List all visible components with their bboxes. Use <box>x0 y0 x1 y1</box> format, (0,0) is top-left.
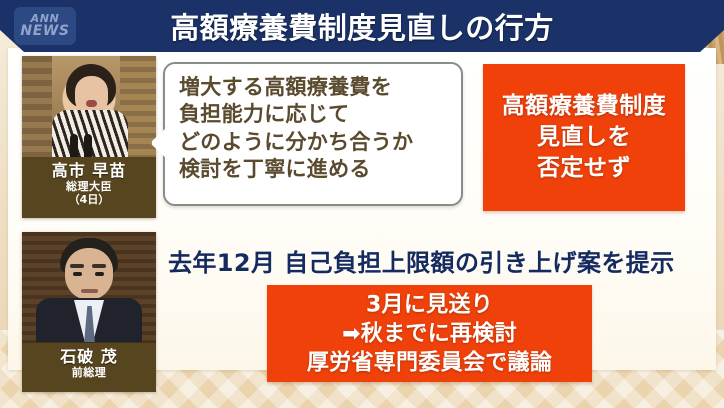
speaker-card-takaichi: 高市 早苗 総理大臣 （4日） <box>22 56 156 218</box>
quote-text: 増大する高額療養費を 負担能力に応じて どのように分かち合うか 検討を丁寧に進め… <box>179 74 451 183</box>
quote-line: 検討を丁寧に進める <box>179 156 451 183</box>
takaichi-sanae-photo <box>22 56 156 168</box>
figure-eye <box>95 272 104 276</box>
highlight-line: 高額療養費制度 <box>483 91 685 122</box>
page-title: 高額療養費制度見直しの行方 <box>0 0 724 52</box>
highlight-line: 見直しを <box>483 122 685 153</box>
ishiba-shigeru-photo <box>22 232 156 342</box>
quote-speech-bubble: 増大する高額療養費を 負担能力に応じて どのように分かち合うか 検討を丁寧に進め… <box>163 62 463 206</box>
figure-eye <box>73 272 82 276</box>
news-graphic-stage: ANN NEWS 高額療養費制度見直しの行方 高市 早苗 総理大臣 （4日） <box>0 0 724 408</box>
speaker-name: 高市 早苗 <box>22 162 156 180</box>
speaker-name: 石破 茂 <box>22 348 156 366</box>
highlight-box-top: 高額療養費制度 見直しを 否定せず <box>483 64 685 211</box>
speaker-role: 総理大臣 <box>22 181 156 193</box>
figure-eyebrow <box>92 264 106 268</box>
figure-eyebrow <box>70 264 84 268</box>
quote-line: 負担能力に応じて <box>179 101 451 128</box>
highlight-line: 厚労省専門委員会で議論 <box>267 348 592 377</box>
highlight-box-bottom: 3月に見送り ➡秋までに再検討 厚労省専門委員会で議論 <box>267 285 592 382</box>
highlight-line: ➡秋までに再検討 <box>267 319 592 348</box>
figure-mouth <box>81 289 98 293</box>
quote-line: 増大する高額療養費を <box>179 74 451 101</box>
highlight-line: 否定せず <box>483 153 685 184</box>
photo-backdrop-left <box>22 56 52 168</box>
highlight-bottom-text: 3月に見送り ➡秋までに再検討 厚労省専門委員会で議論 <box>267 290 592 377</box>
subheading-text: 去年12月 自己負担上限額の引き上げ案を提示 <box>168 243 708 277</box>
nameplate-takaichi: 高市 早苗 総理大臣 （4日） <box>22 157 156 218</box>
highlight-line: 3月に見送り <box>267 290 592 319</box>
highlight-top-text: 高額療養費制度 見直しを 否定せず <box>483 91 685 185</box>
speaker-card-ishiba: 石破 茂 前総理 <box>22 232 156 392</box>
figure-mouth <box>86 100 97 107</box>
speaker-role: 前総理 <box>22 367 156 379</box>
quote-line: どのように分かち合うか <box>179 129 451 156</box>
header-bar: ANN NEWS 高額療養費制度見直しの行方 <box>0 0 724 52</box>
nameplate-ishiba: 石破 茂 前総理 <box>22 343 156 392</box>
speaker-date: （4日） <box>22 194 156 206</box>
